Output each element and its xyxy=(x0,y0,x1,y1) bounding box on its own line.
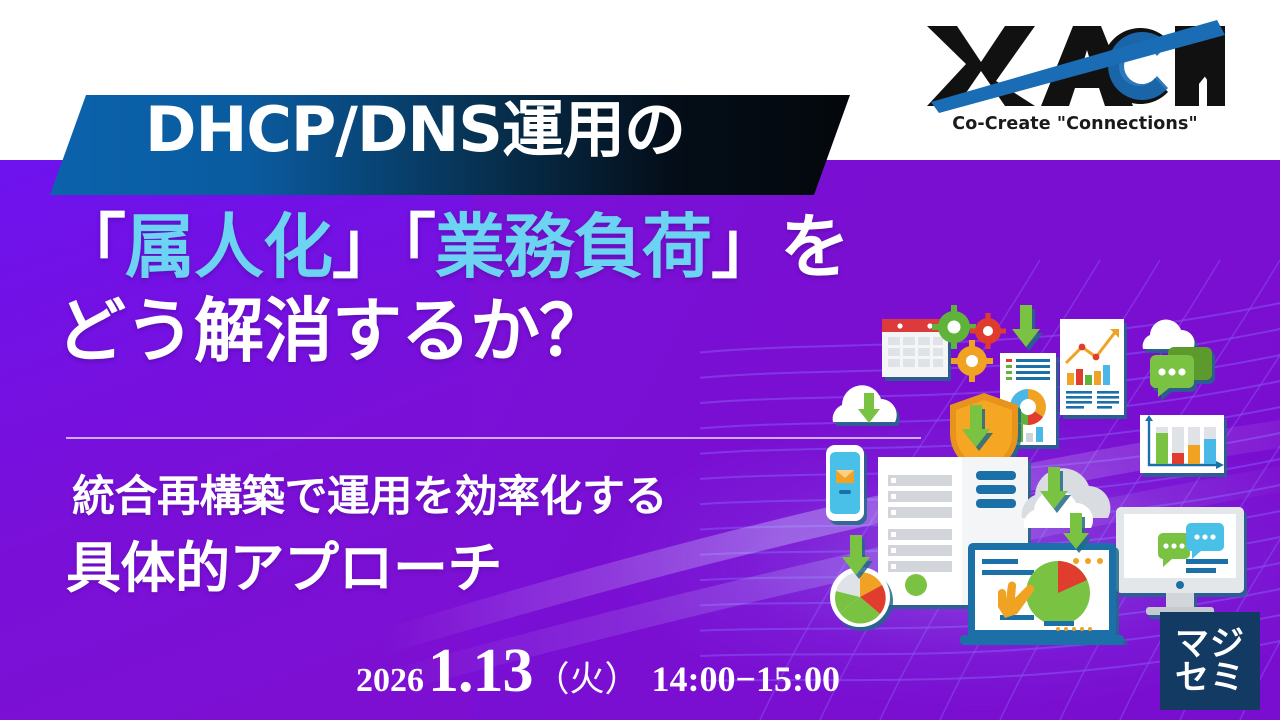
headline-accent-2: 業務負荷 xyxy=(435,206,711,288)
badge-line-1: マジ xyxy=(1175,627,1245,661)
subtitle-line-1: 統合再構築で運用を効率化する xyxy=(72,462,667,524)
pie-chart-icon xyxy=(830,567,890,627)
logo-tagline: Co-Create "Connections" xyxy=(925,114,1225,134)
date-day: 1.13 xyxy=(424,636,533,707)
analytics-document-icon xyxy=(1060,319,1124,415)
title-divider xyxy=(66,437,921,439)
cloud-download-icon xyxy=(833,385,897,423)
cloud-icon-2 xyxy=(1022,468,1111,528)
webinar-datetime: 2026 1.13 （火） 14:00−15:00 xyxy=(356,636,840,707)
subtitle-line-2: 具体的アプローチ xyxy=(66,523,502,603)
quote-close-1: 」 xyxy=(332,206,401,288)
date-dayofweek: （火） xyxy=(533,651,640,702)
technology-illustration xyxy=(820,285,1280,645)
majisemi-badge: マジ セミ xyxy=(1160,612,1260,710)
headline-line-2: どう解消するか？ xyxy=(56,289,849,373)
headline-tail: を xyxy=(780,206,849,288)
banner-title: DHCP/DNS運用の xyxy=(145,99,685,161)
quote-open-2: 「 xyxy=(401,206,435,288)
headline-line-1: 「属人化」「業務負荷」を xyxy=(56,205,849,289)
smartphone-mail-icon xyxy=(826,445,864,521)
cloud-icon xyxy=(1143,320,1195,349)
date-time: 14:00−15:00 xyxy=(640,658,841,700)
xack-logo: Co-Create "Connections" xyxy=(925,18,1225,143)
quote-open-1: 「 xyxy=(56,206,125,288)
date-year: 2026 xyxy=(356,662,424,700)
bar-chart-panel-icon xyxy=(1140,415,1224,473)
webinar-banner: 【ネットワーク利用者数 5,000名以上向け】 Co-Create "Con xyxy=(0,0,1280,720)
badge-line-2: セミ xyxy=(1175,661,1245,695)
desktop-monitor-icon xyxy=(1116,507,1244,615)
headline-accent-1: 属人化 xyxy=(125,206,332,288)
laptop-chart-icon xyxy=(960,543,1124,645)
page-title: 「属人化」「業務負荷」を どう解消するか？ xyxy=(56,205,849,373)
xack-logo-mark xyxy=(925,18,1225,113)
chat-bubbles-icon xyxy=(1150,347,1212,397)
quote-close-2: 」 xyxy=(711,206,780,288)
